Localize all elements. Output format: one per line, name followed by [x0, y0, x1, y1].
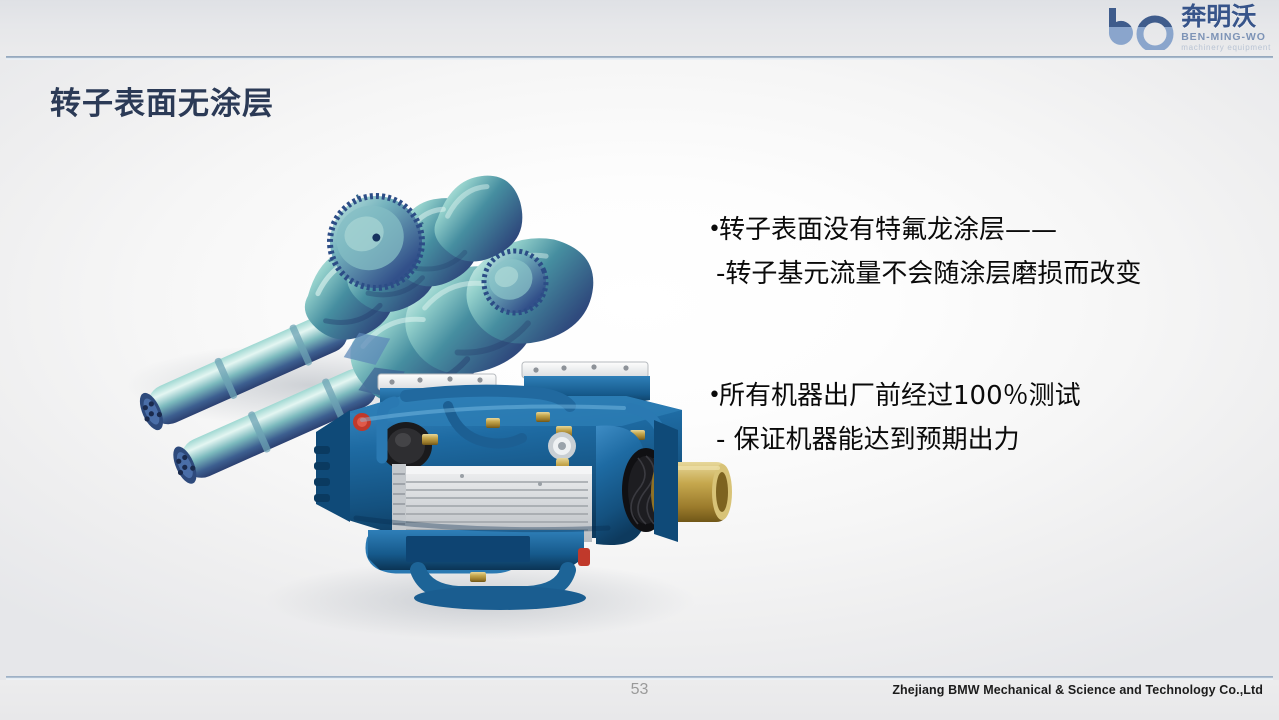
bullet-1-heading: 转子表面没有特氟龙涂层——	[719, 215, 1057, 245]
bo-monogram-icon	[1105, 6, 1177, 50]
bullet-2-heading: 所有机器出厂前经过100％测试	[719, 381, 1081, 411]
bullet-2-heading-line: •所有机器出厂前经过100％测试	[708, 374, 1268, 418]
bullet-marker-2: •	[708, 374, 719, 418]
company-logo: 奔明沃 BEN-MING-WO machinery equipment	[1061, 2, 1271, 54]
slide-root: 奔明沃 BEN-MING-WO machinery equipment 转子表面…	[0, 0, 1279, 720]
bullet-marker-1: •	[708, 208, 719, 252]
bullet-block-1: •转子表面没有特氟龙涂层—— -转子基元流量不会随涂层磨损而改变	[708, 208, 1268, 296]
header-divider-highlight	[6, 58, 1273, 60]
content-body: •转子表面没有特氟龙涂层—— -转子基元流量不会随涂层磨损而改变 •所有机器出厂…	[708, 208, 1268, 462]
logo-tagline: machinery equipment	[1181, 44, 1271, 52]
logo-chinese-name: 奔明沃	[1181, 4, 1256, 29]
bullet-1-sub: -转子基元流量不会随涂层磨损而改变	[708, 252, 1268, 296]
footer-company-name: Zhejiang BMW Mechanical & Science and Te…	[892, 683, 1263, 697]
bullet-block-2: •所有机器出厂前经过100％测试 - 保证机器能达到预期出力	[708, 374, 1268, 462]
bullet-1-heading-line: •转子表面没有特氟龙涂层——	[708, 208, 1268, 252]
illustration-group	[60, 150, 740, 650]
page-title: 转子表面无涂层	[50, 78, 274, 123]
bullet-2-sub: - 保证机器能达到预期出力	[708, 418, 1268, 462]
logo-wordmark: 奔明沃 BEN-MING-WO machinery equipment	[1181, 4, 1271, 53]
logo-latin-name: BEN-MING-WO	[1181, 32, 1266, 43]
artwork-svg	[60, 150, 740, 650]
